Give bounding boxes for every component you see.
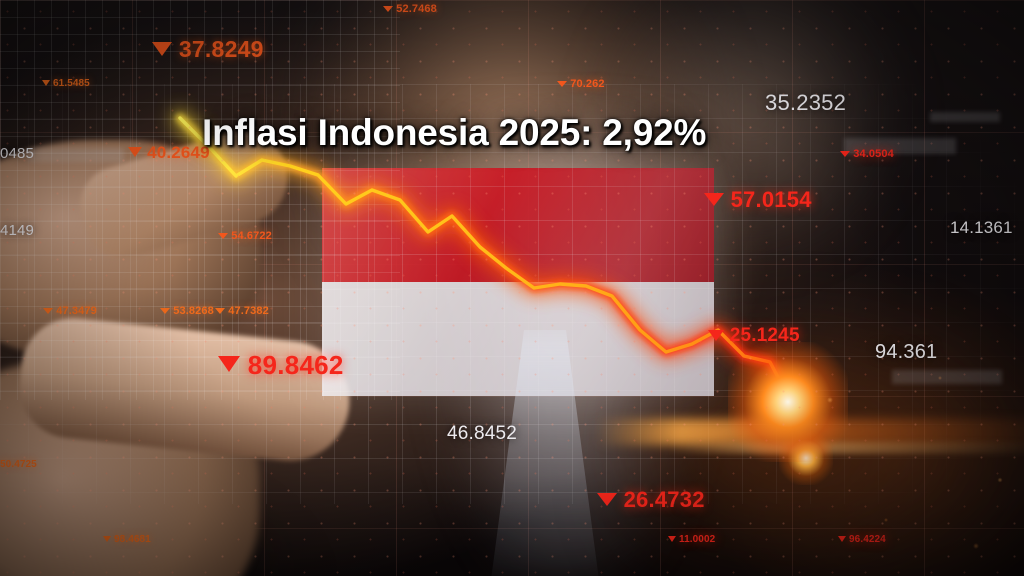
data-label-35-2352: 35.2352 — [765, 90, 846, 116]
dot-matrix-grid-secondary — [0, 0, 1024, 576]
data-label-value: 61.5485 — [53, 78, 90, 89]
down-arrow-icon — [383, 6, 393, 12]
plate-topleft — [28, 148, 124, 162]
data-label-value: 52.7468 — [396, 3, 437, 15]
data-label-98-4681: 98.4681 — [103, 534, 151, 545]
down-arrow-icon — [840, 151, 850, 157]
data-label-value: 14.1361 — [950, 218, 1013, 238]
data-label-value: 50.4725 — [0, 459, 37, 470]
down-arrow-icon — [218, 233, 228, 239]
plate-mid — [892, 370, 1002, 384]
data-label-34-0504: 34.0504 — [840, 148, 894, 160]
data-label-54-6722: 54.6722 — [218, 230, 272, 242]
data-label-50-4725: 50.4725 — [0, 459, 37, 470]
down-arrow-icon — [152, 42, 172, 56]
data-label-14-1361: 14.1361 — [950, 218, 1013, 238]
data-label-value: 94.361 — [875, 341, 937, 364]
data-label-value: 57.0154 — [731, 187, 812, 213]
data-label-40-2649: 40.2649 — [128, 143, 210, 163]
data-label-value: 47.7382 — [228, 305, 269, 317]
data-label-value: 0485 — [0, 145, 34, 162]
down-arrow-icon — [128, 147, 142, 157]
down-arrow-icon — [704, 193, 724, 206]
down-arrow-icon — [42, 80, 50, 86]
data-label-52-7468: 52.7468 — [383, 3, 437, 15]
data-label-70-262: 70.262 — [557, 78, 605, 90]
down-arrow-icon — [597, 493, 617, 506]
data-label-value: 46.8452 — [447, 423, 517, 445]
data-label-25-1245: 25.1245 — [708, 325, 800, 347]
down-arrow-icon — [557, 81, 567, 87]
data-label-47-3479: 47.3479 — [43, 305, 97, 317]
data-label-value: 53.8268 — [173, 305, 214, 317]
data-label-value: 54.6722 — [231, 230, 272, 242]
data-label-value: 47.3479 — [56, 305, 97, 317]
down-arrow-icon — [838, 536, 846, 542]
down-arrow-icon — [668, 536, 676, 542]
data-label-47-7382: 47.7382 — [215, 305, 269, 317]
down-arrow-icon — [708, 330, 724, 341]
data-label-value: 11.0002 — [679, 534, 715, 545]
page-title: Inflasi Indonesia 2025: 2,92% — [202, 112, 706, 154]
data-label-4149: 4149 — [0, 222, 34, 239]
data-label-57-0154: 57.0154 — [704, 187, 812, 213]
data-label-0485: 0485 — [0, 145, 34, 162]
data-label-61-5485: 61.5485 — [42, 78, 90, 89]
data-label-89-8462: 89.8462 — [218, 350, 344, 381]
down-arrow-icon — [160, 308, 170, 314]
down-arrow-icon — [103, 536, 111, 542]
data-label-value: 96.4224 — [849, 534, 886, 545]
plate-small — [930, 112, 1000, 122]
down-arrow-icon — [215, 308, 225, 314]
data-label-value: 89.8462 — [248, 350, 344, 381]
data-label-26-4732: 26.4732 — [597, 487, 705, 513]
data-label-value: 34.0504 — [853, 148, 894, 160]
data-label-value: 25.1245 — [730, 325, 800, 347]
data-label-value: 26.4732 — [624, 487, 705, 513]
data-label-11-0002: 11.0002 — [668, 534, 715, 545]
data-label-value: 35.2352 — [765, 90, 846, 116]
data-label-value: 98.4681 — [114, 534, 151, 545]
inflation-infographic: 52.746837.824970.26261.548535.235240.264… — [0, 0, 1024, 576]
data-label-37-8249: 37.8249 — [152, 36, 264, 63]
data-label-96-4224: 96.4224 — [838, 534, 886, 545]
data-label-94-361: 94.361 — [875, 341, 937, 364]
data-label-value: 40.2649 — [147, 143, 210, 163]
data-label-value: 4149 — [0, 222, 34, 239]
data-label-53-8268: 53.8268 — [160, 305, 214, 317]
data-label-value: 70.262 — [570, 78, 604, 90]
down-arrow-icon — [218, 356, 240, 372]
data-label-value: 37.8249 — [179, 36, 264, 63]
data-label-46-8452: 46.8452 — [447, 423, 517, 445]
down-arrow-icon — [43, 308, 53, 314]
